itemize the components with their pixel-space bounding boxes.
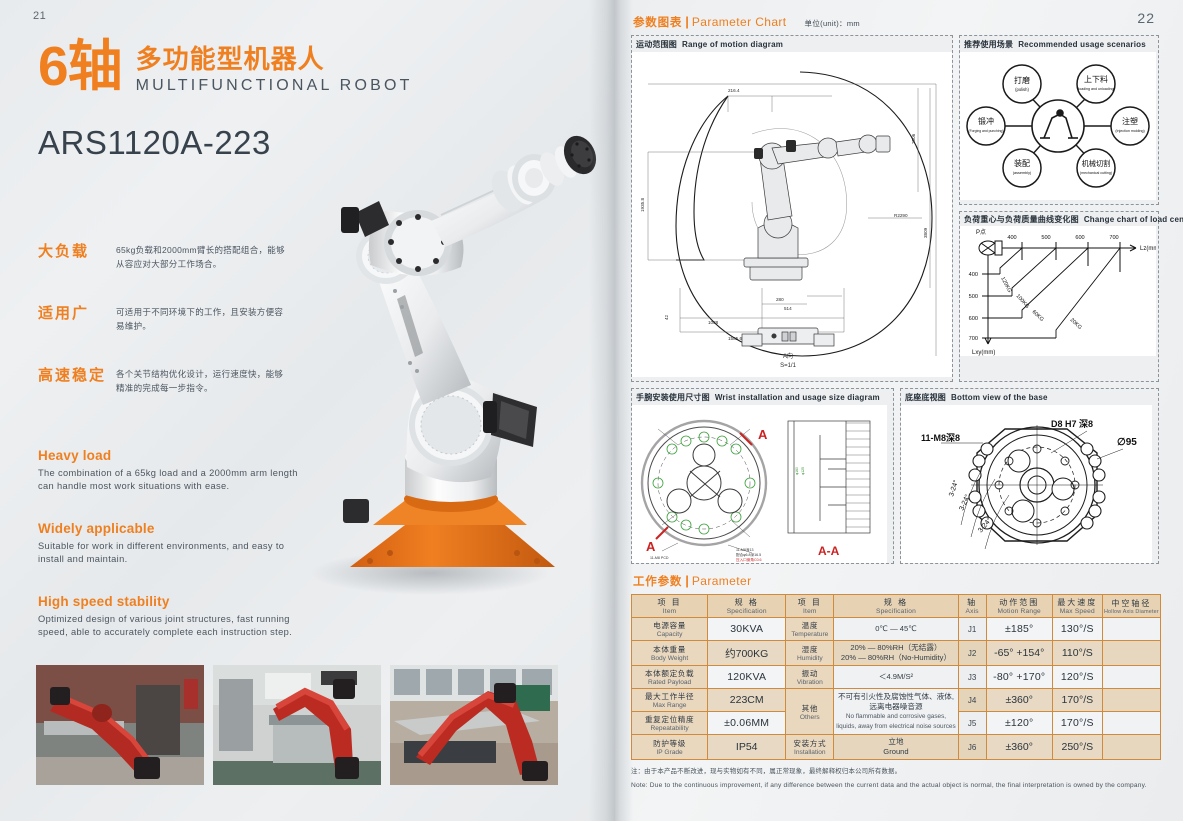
load-y-tick-0: 400 — [969, 272, 978, 278]
footnote-cn: 注：由于本产品不断改进，现与实物如有不同，属正常现象，最终解释权归本公司所有数据… — [631, 767, 1161, 777]
cell-axis: J2 — [958, 641, 986, 666]
cell-speed: 110°/S — [1052, 641, 1102, 666]
cell-spec-cn: 立地 — [835, 737, 956, 747]
cell-item2-en: Temperature — [787, 631, 832, 638]
cell-range: ±120° — [986, 712, 1052, 735]
scenario-cn-1: 上下料 — [1084, 74, 1108, 84]
usage-scenarios-title-en: Recommended usage scenarios — [1018, 40, 1146, 49]
load-x-tick-2: 600 — [1075, 235, 1084, 241]
th-spec-2-cn: 规 格 — [835, 597, 956, 608]
wrist-diagram-title-en: Wrist installation and usage size diagra… — [715, 393, 880, 402]
usage-scenarios-box: 推荐使用场景Recommended usage scenarios — [959, 35, 1159, 205]
section-header-parameter-chart: 参数图表 | Parameter Chart 单位(unit)：mm — [633, 14, 1171, 30]
cell-item2-en: Installation — [787, 749, 832, 756]
cell-axis: J5 — [958, 712, 986, 735]
table-row: 防护等级 IP Grade IP54 安装方式 Installation 立地 … — [632, 735, 1161, 760]
table-row: 本体额定负载 Rated Payload 120KVA 振动 Vibration… — [632, 666, 1161, 689]
cell-range: ±360° — [986, 689, 1052, 712]
range-of-motion-box: 运动范围图Range of motion diagram — [631, 35, 953, 382]
dim-514: 514 — [784, 306, 792, 311]
base-note-2: D8 H7 深8 — [1051, 418, 1093, 429]
cell-speed: 170°/S — [1052, 689, 1102, 712]
cell-hollow — [1102, 641, 1160, 666]
cell-range: ±360° — [986, 735, 1052, 760]
cell-range: -65° +154° — [986, 641, 1052, 666]
dim-1585-6: 1585.6 — [728, 336, 742, 341]
load-curve-title-en: Change chart of load center of gravity a… — [1084, 215, 1183, 224]
cell-item: 防护等级 IP Grade — [632, 735, 708, 760]
cell-value: 120KVA — [708, 666, 786, 689]
cell-item-en: Body Weight — [633, 655, 706, 662]
th-hollow-cn: 中空轴径 — [1104, 598, 1159, 609]
cell-item2-en: Vibration — [787, 679, 832, 686]
param-title-cn: 工作参数 — [633, 573, 682, 589]
dim-42: 42 — [664, 314, 669, 320]
cell-item2: 安装方式 Installation — [786, 735, 834, 760]
cell-item2-en: Humidity — [787, 655, 832, 662]
cell-axis: J3 — [958, 666, 986, 689]
wrist-diagram-title: 手腕安装使用尺寸图Wrist installation and usage si… — [632, 389, 893, 405]
feature-en-body: Optimized design of various joint struct… — [38, 613, 300, 639]
svg-text:φ160: φ160 — [795, 467, 799, 475]
catalog-spread: 21 6轴 多功能型机器人 MULTIFUNCTIONAL ROBOT ARS1… — [0, 0, 1183, 821]
load-x-axis-label: Lz(mm) — [1140, 246, 1156, 252]
cell-axis: J6 — [958, 735, 986, 760]
table-header-row: 项 目 Item 规 格 Specification 项 目 Item 规 格 … — [632, 595, 1161, 618]
section-header-parameter: 工作参数 | Parameter — [633, 573, 1171, 589]
wrist-note-4: 压入口倒角C0.6 — [736, 557, 762, 562]
scenario-en-2: (Injection molding) — [1115, 129, 1144, 133]
cell-hollow — [1102, 689, 1160, 712]
cell-spec: ＜4.9M/S² — [834, 666, 958, 689]
load-curve-title: 负荷重心与负荷质量曲线变化图Change chart of load cente… — [960, 212, 1158, 226]
cell-item-cn: 重复定位精度 — [633, 714, 706, 725]
th-hollow: 中空轴径 Hollow Axis Diameter — [1102, 595, 1160, 618]
cell-item2-cn: 湿度 — [787, 644, 832, 655]
load-y-tick-1: 500 — [969, 294, 978, 300]
th-range: 动作范围 Motion Range — [986, 595, 1052, 618]
scenario-en-4: (assembly) — [1013, 171, 1032, 175]
th-item-2-en: Item — [787, 608, 832, 615]
cell-item-cn: 最大工作半径 — [633, 691, 706, 702]
param-title-divider: | — [685, 573, 689, 588]
cell-item-cn: 本体额定负载 — [633, 668, 706, 679]
range-of-motion-title: 运动范围图Range of motion diagram — [632, 36, 952, 52]
svg-text:φ125: φ125 — [801, 467, 805, 475]
cell-spec-cn: 20% — 80%RH（无结露） — [835, 643, 956, 653]
feature-cn-row: 适用广 可适用于不同环境下的工作，且安装方便容易维护。 — [38, 305, 288, 333]
base-bottom-view-title-en: Bottom view of the base — [951, 393, 1048, 402]
cell-axis: J4 — [958, 689, 986, 712]
cell-item: 重复定位精度 Repeatability — [632, 712, 708, 735]
dim-3809: 3809 — [923, 227, 928, 238]
th-item-1-en: Item — [633, 608, 706, 615]
section-title-cn: 参数图表 — [633, 14, 682, 30]
title-en-sub: MULTIFUNCTIONAL ROBOT — [136, 77, 413, 95]
load-x-tick-3: 700 — [1109, 235, 1118, 241]
th-spec-1-en: Specification — [709, 608, 784, 615]
cell-spec-cn: 不可有引火性及腐蚀性气体、液体,远离电器噪音源 — [835, 692, 956, 712]
th-item-1: 项 目 Item — [632, 595, 708, 618]
wrist-section-label: A-A — [818, 544, 840, 558]
cell-spec: 不可有引火性及腐蚀性气体、液体,远离电器噪音源 No flammable and… — [834, 689, 958, 735]
cell-value: 30KVA — [708, 618, 786, 641]
page-number-left: 21 — [33, 10, 46, 22]
cell-speed: 170°/S — [1052, 712, 1102, 735]
cell-item2: 其他 Others — [786, 689, 834, 735]
scenario-en-5: (Forging and punching) — [968, 129, 1003, 133]
th-speed-en: Max Speed — [1054, 608, 1101, 615]
th-spec-1: 规 格 Specification — [708, 595, 786, 618]
cell-item2: 振动 Vibration — [786, 666, 834, 689]
dim-1935-8: 1935.8 — [640, 198, 645, 212]
load-curve-label-0: 120KG — [999, 276, 1012, 294]
cell-value: 223CM — [708, 689, 786, 712]
cell-item: 本体额定负载 Rated Payload — [632, 666, 708, 689]
base-bottom-view-title-cn: 底座底视图 — [905, 393, 946, 402]
table-row: 本体重量 Body Weight 约700KG 湿度 Humidity 20% … — [632, 641, 1161, 666]
table-footnote: 注：由于本产品不断改进，现与实物如有不同，属正常现象，最终解释权归本公司所有数据… — [631, 767, 1161, 791]
cell-item-en: Rated Payload — [633, 679, 706, 686]
cell-spec: 0℃ — 45℃ — [834, 618, 958, 641]
product-model: ARS1120A-223 — [38, 124, 271, 162]
load-curve-box: 负荷重心与负荷质量曲线变化图Change chart of load cente… — [959, 211, 1159, 382]
dim-1088: 1088 — [708, 320, 719, 325]
hero-robot-image — [255, 95, 605, 605]
cell-range: -80° +170° — [986, 666, 1052, 689]
th-item-1-cn: 项 目 — [633, 597, 706, 608]
wrist-arrow-a-bottom: A — [646, 539, 656, 554]
feature-cn-key: 大负载 — [38, 243, 116, 271]
cell-item-en: Max Range — [633, 702, 706, 709]
th-spec-2-en: Specification — [835, 608, 956, 615]
cell-item-en: IP Grade — [633, 749, 706, 756]
cell-spec: 立地 Ground — [834, 735, 958, 760]
cell-spec-en: 20% — 80%RH（No-Humidity） — [835, 653, 956, 663]
cell-spec: 20% — 80%RH（无结露） 20% — 80%RH（No-Humidity… — [834, 641, 958, 666]
features-cn: 大负载 65kg负载和2000mm臂长的搭配组合，能够从容应对大部分工作场合。 … — [38, 243, 288, 429]
cell-speed: 130°/S — [1052, 618, 1102, 641]
title-cn-big: 6轴 — [38, 38, 122, 94]
unit-note: 单位(unit)：mm — [805, 18, 860, 29]
cell-item: 电源容量 Capacity — [632, 618, 708, 641]
cell-hollow — [1102, 666, 1160, 689]
diagrams-top-row: 运动范围图Range of motion diagram — [631, 35, 1171, 382]
th-spec-2: 规 格 Specification — [834, 595, 958, 618]
th-range-cn: 动作范围 — [988, 597, 1051, 608]
dim-2506: 2506 — [911, 133, 916, 144]
base-bottom-view-box: 底座底视图Bottom view of the base — [900, 388, 1159, 564]
section-title-divider: | — [685, 14, 689, 29]
load-x-tick-1: 500 — [1041, 235, 1050, 241]
base-note-1: 11-M8深8 — [921, 432, 960, 443]
range-of-motion-title-cn: 运动范围图 — [636, 40, 677, 49]
cell-item-cn: 电源容量 — [633, 620, 706, 631]
scenario-cn-2: 注塑 — [1122, 116, 1138, 126]
cell-axis: J1 — [958, 618, 986, 641]
dim-280: 280 — [776, 297, 784, 302]
cell-value: IP54 — [708, 735, 786, 760]
param-title-en: Parameter — [692, 574, 752, 588]
diagrams-mid-row: 手腕安装使用尺寸图Wrist installation and usage si… — [631, 388, 1171, 564]
scenario-en-3: (mechanical cutting) — [1080, 171, 1112, 175]
usage-scenarios-title-cn: 推荐使用场景 — [964, 40, 1013, 49]
cell-item2-cn: 安装方式 — [787, 738, 832, 749]
th-range-en: Motion Range — [988, 608, 1051, 615]
wrist-arrow-a-top: A — [758, 427, 768, 442]
view-label-a: A向 — [783, 352, 793, 360]
th-spec-1-cn: 规 格 — [709, 597, 784, 608]
base-angle-1: 3-24° — [947, 479, 960, 498]
feature-cn-row: 高速稳定 各个关节结构优化设计，运行速度快，能够精准的完成每一步指令。 — [38, 367, 288, 395]
wrist-diagram-box: 手腕安装使用尺寸图Wrist installation and usage si… — [631, 388, 894, 564]
th-item-2: 项 目 Item — [786, 595, 834, 618]
photo-thumbnail — [36, 665, 204, 785]
load-curve-label-3: 20KG — [1069, 317, 1083, 331]
footnote-en: Note: Due to the continuous improvement,… — [631, 781, 1161, 791]
th-speed-cn: 最大速度 — [1054, 597, 1101, 608]
base-angle-2: 3-24° — [958, 493, 972, 512]
scenario-cn-3: 机械切割 — [1082, 159, 1111, 168]
wrist-note-2: 11-M8深13 — [736, 547, 754, 552]
title-cn-sub: 多功能型机器人 — [136, 44, 413, 74]
load-curve-label-2: 60KG — [1031, 309, 1045, 323]
base-note-3: ∅95 — [1117, 437, 1137, 448]
cell-item: 最大工作半径 Max Range — [632, 689, 708, 712]
photo-strip — [36, 665, 558, 785]
cell-item2-en: Others — [787, 714, 832, 721]
scenario-cn-0: 打磨 — [1014, 75, 1030, 85]
table-row: 最大工作半径 Max Range 223CM 其他 Others 不可有引火性及… — [632, 689, 1161, 712]
cell-spec-en: Ground — [835, 747, 956, 757]
cell-spec-en: No flammable and corrosive gases, liquid… — [835, 712, 956, 732]
cell-hollow — [1102, 735, 1160, 760]
cell-item2: 湿度 Humidity — [786, 641, 834, 666]
load-curve-label-1: 100KG — [1015, 293, 1031, 309]
title-block: 6轴 多功能型机器人 MULTIFUNCTIONAL ROBOT — [38, 38, 413, 95]
cell-spec-cn: 0℃ — 45℃ — [835, 624, 956, 634]
th-speed: 最大速度 Max Speed — [1052, 595, 1102, 618]
th-axis: 轴 Axis — [958, 595, 986, 618]
load-origin-label: P点 — [976, 228, 986, 236]
th-hollow-en: Hollow Axis Diameter — [1104, 609, 1159, 615]
wrist-note-1: 11-M8 PCD — [650, 556, 669, 560]
scenario-cn-4: 装配 — [1014, 158, 1030, 168]
feature-cn-key: 适用广 — [38, 305, 116, 333]
th-axis-en: Axis — [960, 608, 985, 615]
cell-item-cn: 防护等级 — [633, 738, 706, 749]
load-y-tick-3: 700 — [969, 336, 978, 342]
load-y-axis-label: Lxy(mm) — [972, 350, 995, 356]
wrist-note-3: 配合φ6.8深16.5 — [736, 552, 761, 557]
cell-item-cn: 本体重量 — [633, 644, 706, 655]
photo-thumbnail — [213, 665, 381, 785]
cell-item-en: Capacity — [633, 631, 706, 638]
cell-speed: 250°/S — [1052, 735, 1102, 760]
table-row: 电源容量 Capacity 30KVA 温度 Temperature 0℃ — … — [632, 618, 1161, 641]
left-page: 21 6轴 多功能型机器人 MULTIFUNCTIONAL ROBOT ARS1… — [0, 0, 615, 821]
scenario-en-0: (polish) — [1015, 87, 1029, 92]
dim-r2290: R2290 — [894, 213, 908, 218]
load-x-tick-0: 400 — [1007, 235, 1016, 241]
parameter-table: 项 目 Item 规 格 Specification 项 目 Item 规 格 … — [631, 594, 1161, 760]
cell-hollow — [1102, 618, 1160, 641]
th-axis-cn: 轴 — [960, 597, 985, 608]
cell-spec-cn: ＜4.9M/S² — [835, 672, 956, 682]
cell-value: ±0.06MM — [708, 712, 786, 735]
load-curve-title-cn: 负荷重心与负荷质量曲线变化图 — [964, 215, 1079, 224]
cell-item2-cn: 振动 — [787, 668, 832, 679]
cell-item2-cn: 其他 — [787, 703, 832, 714]
th-item-2-cn: 项 目 — [787, 597, 832, 608]
base-bottom-view-title: 底座底视图Bottom view of the base — [901, 389, 1158, 405]
photo-thumbnail — [390, 665, 558, 785]
diagrams-right-column: 推荐使用场景Recommended usage scenarios — [959, 35, 1159, 382]
cell-item2-cn: 温度 — [787, 620, 832, 631]
page-number-right: 22 — [1137, 10, 1155, 26]
section-title-en: Parameter Chart — [692, 15, 787, 29]
right-page: 22 参数图表 | Parameter Chart 单位(unit)：mm 运动… — [615, 0, 1183, 821]
cell-value: 约700KG — [708, 641, 786, 666]
load-y-tick-2: 600 — [969, 316, 978, 322]
feature-cn-key: 高速稳定 — [38, 367, 116, 395]
wrist-diagram-title-cn: 手腕安装使用尺寸图 — [636, 393, 710, 402]
cell-item2: 温度 Temperature — [786, 618, 834, 641]
feature-cn-row: 大负载 65kg负载和2000mm臂长的搭配组合，能够从容应对大部分工作场合。 — [38, 243, 288, 271]
range-of-motion-title-en: Range of motion diagram — [682, 40, 783, 49]
usage-scenarios-title: 推荐使用场景Recommended usage scenarios — [960, 36, 1158, 52]
scenario-cn-5: 锻冲 — [978, 116, 994, 126]
cell-range: ±185° — [986, 618, 1052, 641]
scenario-en-1: (loading and unloading) — [1077, 87, 1115, 91]
view-scale: S=1/1 — [780, 363, 797, 369]
cell-item-en: Repeatability — [633, 725, 706, 732]
cell-item: 本体重量 Body Weight — [632, 641, 708, 666]
dim-216-4: 216.4 — [728, 88, 740, 93]
cell-hollow — [1102, 712, 1160, 735]
cell-speed: 120°/S — [1052, 666, 1102, 689]
